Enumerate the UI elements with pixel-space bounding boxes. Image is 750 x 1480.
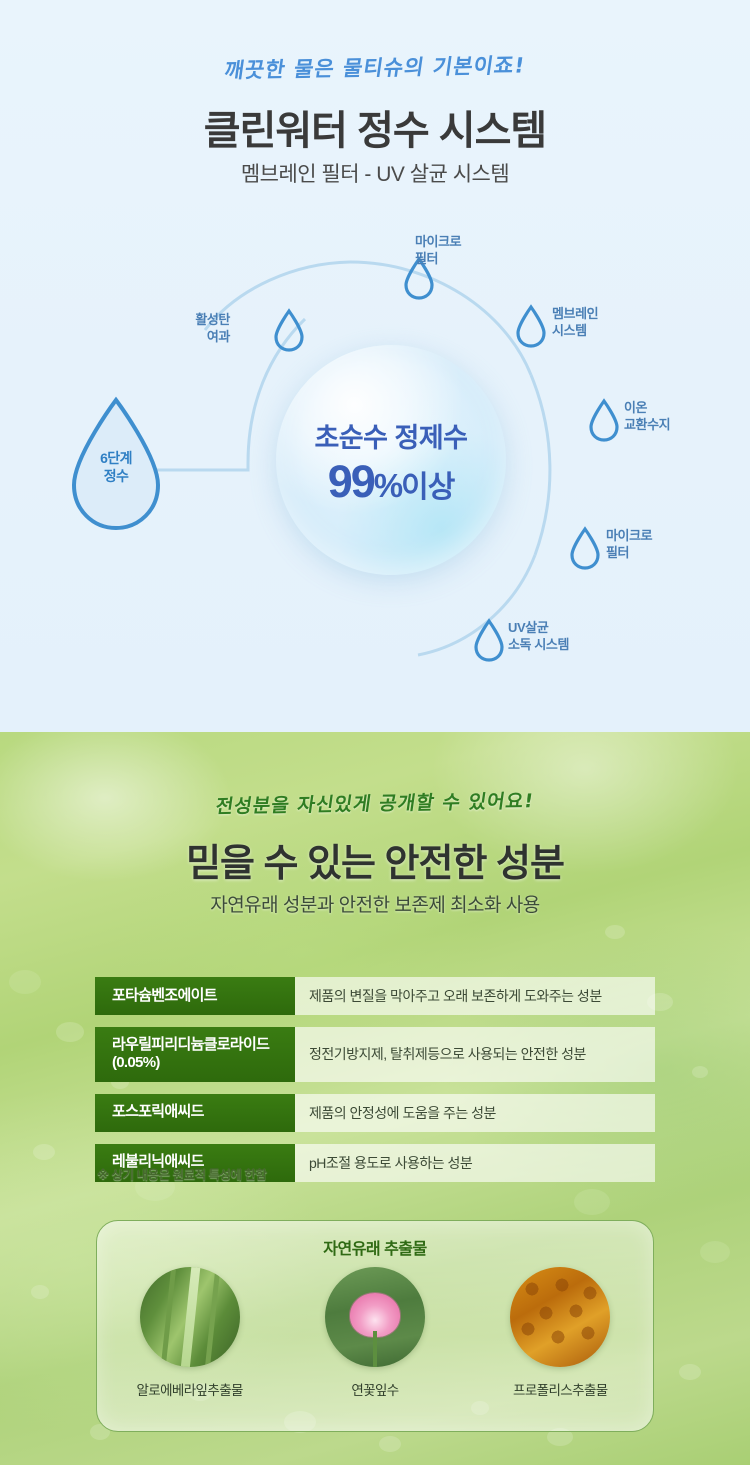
ingredient-subtitle: 자연유래 성분과 안전한 보존제 최소화 사용 (0, 890, 750, 917)
stage-2-label: 마이크로 필터 (415, 233, 461, 267)
stage-4-label-line1: 이온 (624, 399, 670, 416)
table-row: 포스포릭애씨드 제품의 안정성에 도움을 주는 성분 (95, 1094, 655, 1132)
stage-4-label-line2: 교환수지 (624, 416, 670, 433)
list-item: 알로에베라잎추출물 (106, 1267, 274, 1399)
list-item: 프로폴리스추출물 (476, 1267, 644, 1399)
water-subtitle: 멤브레인 필터 - UV 살균 시스템 (0, 158, 750, 188)
purity-bubble: 초순수 정제수 99%이상 (276, 345, 506, 575)
stage-5-label: 마이크로 필터 (606, 527, 652, 561)
stage-6-label-line2: 소독 시스템 (508, 636, 569, 653)
aloe-photo (140, 1267, 240, 1367)
bubble-value: 99 (328, 456, 374, 507)
stage-6-droplet-icon (472, 617, 506, 663)
ingredient-desc-cell: 정전기방지제, 탈취제등으로 사용되는 안전한 성분 (295, 1027, 655, 1082)
water-tagline: 깨끗한 물은 물티슈의 기본이죠! (0, 45, 750, 88)
extract-panel-title: 자연유래 추출물 (97, 1235, 653, 1259)
lotus-photo (325, 1267, 425, 1367)
stage-5-droplet-icon (568, 525, 602, 571)
stage-4-label: 이온 교환수지 (624, 399, 670, 433)
stage-6-label-line1: UV살균 (508, 619, 569, 636)
ingredient-name-cell: 포스포릭애씨드 (95, 1094, 295, 1132)
ingredient-name-cell: 라우릴피리디늄클로라이드 (0.05%) (95, 1027, 295, 1082)
ingredient-desc-cell: 제품의 안정성에 도움을 주는 성분 (295, 1094, 655, 1132)
list-item: 연꽃잎수 (291, 1267, 459, 1399)
ingredient-name-line1: 라우릴피리디늄클로라이드 (112, 1036, 295, 1054)
stage-5-label-line1: 마이크로 (606, 527, 652, 544)
propolis-photo (510, 1267, 610, 1367)
ingredient-section: 전성분을 자신있게 공개할 수 있어요! 믿을 수 있는 안전한 성분 자연유래… (0, 732, 750, 1465)
extract-caption: 알로에베라잎추출물 (106, 1379, 274, 1399)
stage-4-droplet-icon (587, 397, 621, 443)
bubble-percent-symbol: % (374, 467, 401, 504)
ingredient-name-line1: 포스포릭애씨드 (112, 1103, 295, 1121)
entry-node-label-line1: 6단계 (81, 449, 151, 467)
arc-segment-3 (531, 375, 550, 555)
stage-3-label: 멤브레인 시스템 (552, 305, 598, 339)
ingredient-desc-cell: 제품의 변질을 막아주고 오래 보존하게 도와주는 성분 (295, 977, 655, 1015)
stage-3-label-line2: 시스템 (552, 322, 598, 339)
stage-3-droplet-icon (514, 303, 548, 349)
ingredient-name-cell: 포타슘벤조에이트 (95, 977, 295, 1015)
stage-1-label-line1: 활성탄 (150, 311, 230, 328)
purification-flow-diagram: 6단계 정수 활성탄 여과 마이크로 필터 멤브레인 시스템 이온 (0, 215, 750, 715)
table-row: 라우릴피리디늄클로라이드 (0.05%) 정전기방지제, 탈취제등으로 사용되는… (95, 1027, 655, 1082)
extract-caption: 연꽃잎수 (291, 1379, 459, 1399)
stage-1-label-line2: 여과 (150, 328, 230, 345)
water-title: 클린워터 정수 시스템 (0, 98, 750, 156)
stage-2-label-line2: 필터 (415, 250, 461, 267)
entry-node-label: 6단계 정수 (81, 449, 151, 485)
natural-extract-panel: 자연유래 추출물 알로에베라잎추출물 연꽃잎수 프로폴리스추출물 (96, 1220, 654, 1432)
ingredient-name-line2: (0.05%) (112, 1054, 295, 1072)
stage-3-label-line1: 멤브레인 (552, 305, 598, 322)
ingredient-footnote: ※ 상기 내용은 원료적 특성에 한함 (97, 1164, 267, 1183)
entry-node-label-line2: 정수 (81, 467, 151, 485)
ingredient-desc-cell: pH조절 용도로 사용하는 성분 (295, 1144, 655, 1182)
ingredient-title: 믿을 수 있는 안전한 성분 (0, 832, 750, 887)
stage-5-label-line2: 필터 (606, 544, 652, 561)
table-row: 포타슘벤조에이트 제품의 변질을 막아주고 오래 보존하게 도와주는 성분 (95, 977, 655, 1015)
stage-6-label: UV살균 소독 시스템 (508, 619, 569, 653)
extract-caption: 프로폴리스추출물 (476, 1379, 644, 1399)
ingredient-table: 포타슘벤조에이트 제품의 변질을 막아주고 오래 보존하게 도와주는 성분 라우… (95, 977, 655, 1194)
bubble-suffix: 이상 (401, 471, 454, 504)
stage-1-label: 활성탄 여과 (150, 311, 230, 345)
water-purification-section: 깨끗한 물은 물티슈의 기본이죠! 클린워터 정수 시스템 멤브레인 필터 - … (0, 0, 750, 732)
bubble-headline: 초순수 정제수 (314, 416, 467, 455)
extract-item-list: 알로에베라잎추출물 연꽃잎수 프로폴리스추출물 (97, 1267, 653, 1399)
ingredient-name-line1: 포타슘벤조에이트 (112, 987, 295, 1005)
bubble-value-row: 99%이상 (328, 459, 455, 504)
stage-2-label-line1: 마이크로 (415, 233, 461, 250)
